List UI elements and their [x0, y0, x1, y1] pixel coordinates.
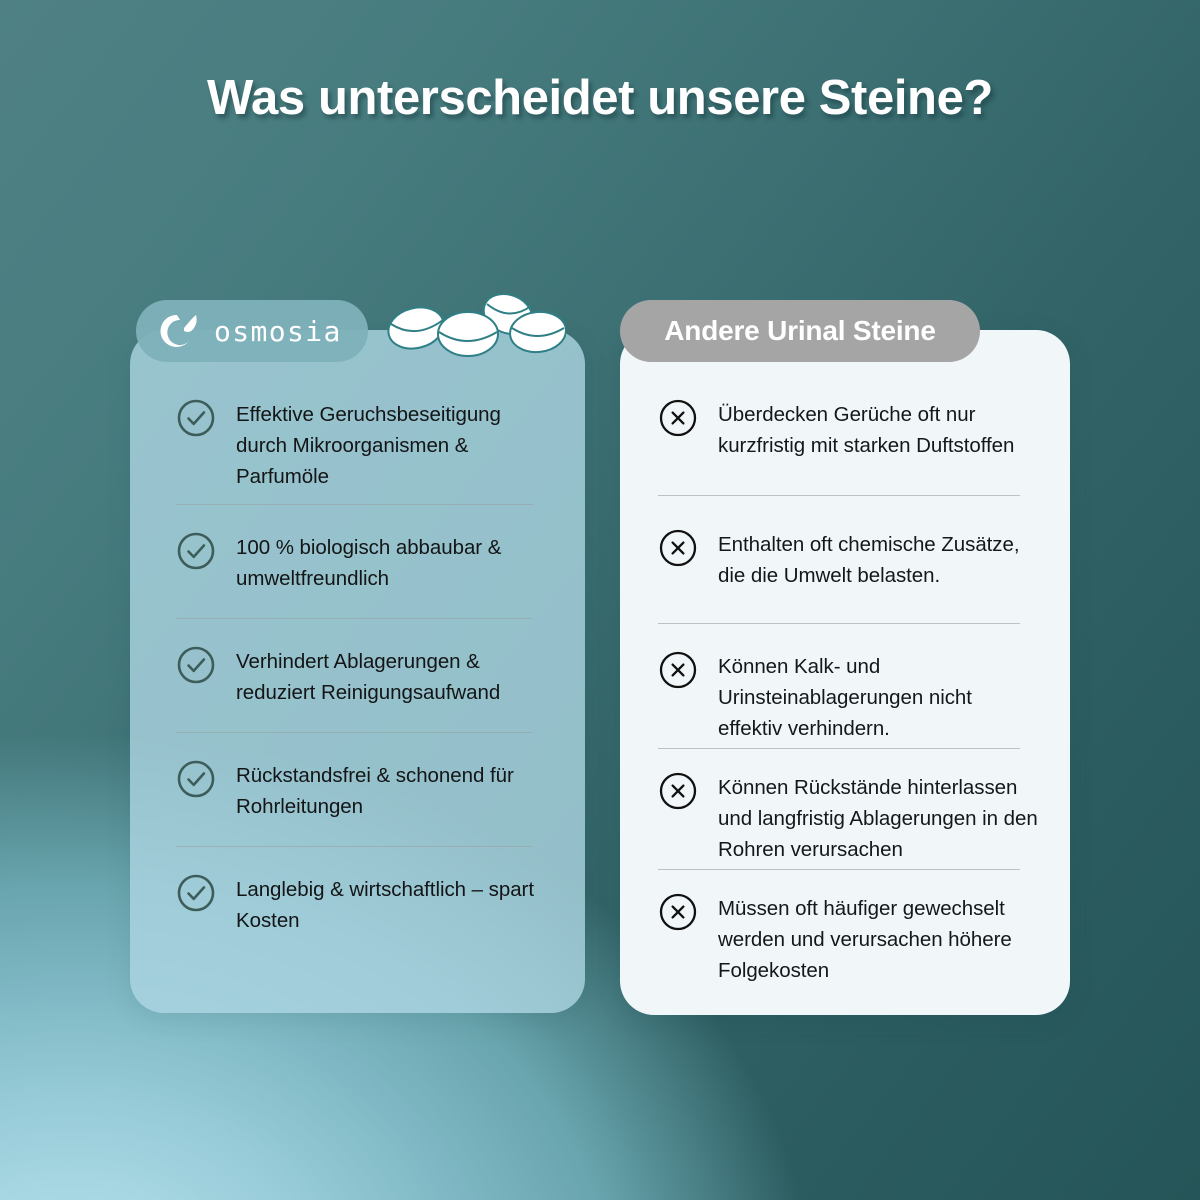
list-item: Überdecken Gerüche oft nur kurzfristig m… — [658, 398, 1040, 461]
list-item-label: Verhindert Ablagerungen & reduziert Rein… — [236, 645, 557, 708]
list-item: Können Rückstände hinterlassen und langf… — [658, 771, 1040, 865]
brand-name: osmosia — [214, 315, 342, 348]
list-item: Langlebig & wirtschaftlich – spart Koste… — [176, 873, 557, 936]
benefit-list-osmosia: Effektive Geruchsbeseitigung durch Mikro… — [130, 398, 585, 936]
urinal-tablets-illustration — [386, 288, 566, 363]
list-item-label: Überdecken Gerüche oft nur kurzfristig m… — [718, 398, 1040, 461]
divider — [658, 623, 1020, 624]
x-circle-icon — [658, 528, 698, 568]
check-circle-icon — [176, 398, 216, 438]
divider — [658, 495, 1020, 496]
list-item-label: Effektive Geruchsbeseitigung durch Mikro… — [236, 398, 557, 492]
list-item-label: Müssen oft häufiger gewechselt werden un… — [718, 892, 1040, 986]
x-circle-icon — [658, 771, 698, 811]
list-item: Verhindert Ablagerungen & reduziert Rein… — [176, 645, 557, 708]
list-item-label: Können Kalk- und Urinsteinablagerungen n… — [718, 650, 1040, 744]
check-circle-icon — [176, 645, 216, 685]
divider — [176, 504, 533, 505]
list-item-label: 100 % biologisch abbaubar & umweltfreund… — [236, 531, 557, 594]
list-item-label: Enthalten oft chemische Zusätze, die die… — [718, 528, 1040, 591]
infographic-canvas: Was unterscheidet unsere Steine? — [0, 0, 1200, 1200]
divider — [658, 748, 1020, 749]
list-item: Können Kalk- und Urinsteinablagerungen n… — [658, 650, 1040, 744]
divider — [176, 846, 533, 847]
others-badge: Andere Urinal Steine — [620, 300, 980, 362]
osmosia-circle-drop-logo — [154, 308, 200, 354]
divider — [176, 618, 533, 619]
others-badge-label: Andere Urinal Steine — [664, 315, 935, 347]
check-circle-icon — [176, 873, 216, 913]
check-circle-icon — [176, 759, 216, 799]
list-item: Enthalten oft chemische Zusätze, die die… — [658, 528, 1040, 591]
drawback-list-others: Überdecken Gerüche oft nur kurzfristig m… — [620, 398, 1070, 986]
list-item: 100 % biologisch abbaubar & umweltfreund… — [176, 531, 557, 594]
x-circle-icon — [658, 650, 698, 690]
check-circle-icon — [176, 531, 216, 571]
list-item-label: Rückstandsfrei & schonend für Rohrleitun… — [236, 759, 557, 822]
x-circle-icon — [658, 398, 698, 438]
brand-badge-osmosia: osmosia — [136, 300, 368, 362]
list-item: Müssen oft häufiger gewechselt werden un… — [658, 892, 1040, 986]
list-item: Effektive Geruchsbeseitigung durch Mikro… — [176, 398, 557, 492]
divider — [176, 732, 533, 733]
list-item-label: Können Rückstände hinterlassen und langf… — [718, 771, 1040, 865]
page-title: Was unterscheidet unsere Steine? — [0, 70, 1200, 126]
list-item-label: Langlebig & wirtschaftlich – spart Koste… — [236, 873, 557, 936]
x-circle-icon — [658, 892, 698, 932]
divider — [658, 869, 1020, 870]
list-item: Rückstandsfrei & schonend für Rohrleitun… — [176, 759, 557, 822]
